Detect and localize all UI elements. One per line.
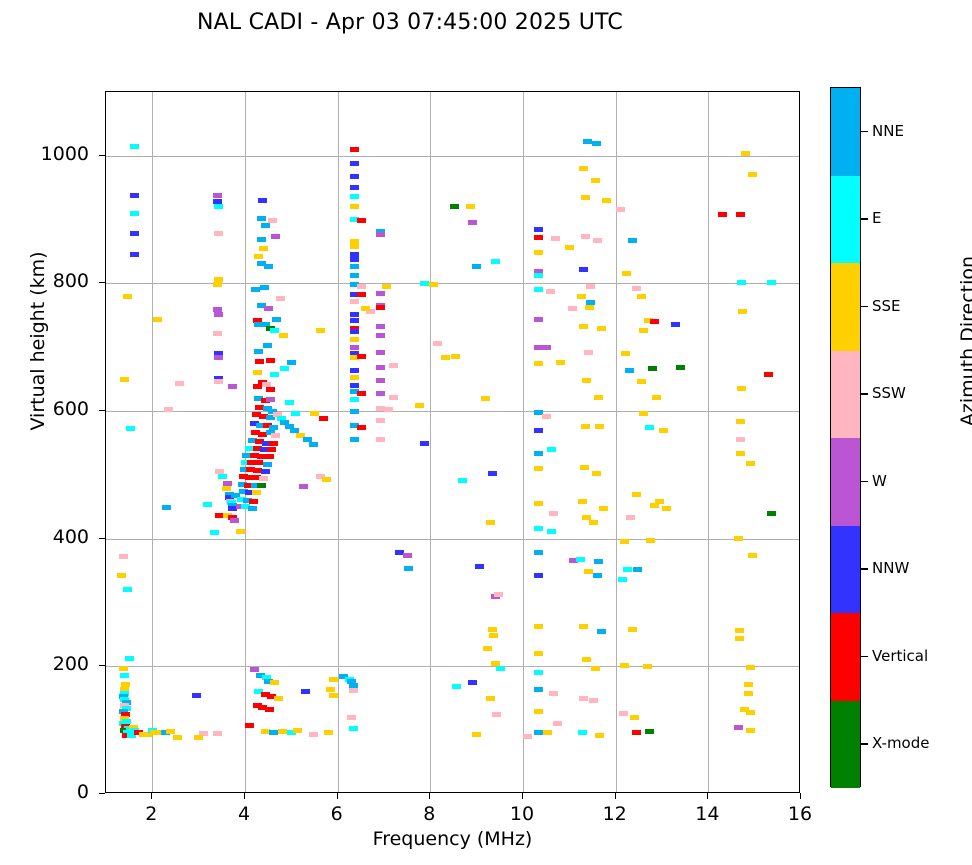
data-point <box>645 729 654 734</box>
colorbar-tick <box>861 568 868 569</box>
data-point <box>630 715 639 720</box>
data-point <box>153 317 162 322</box>
data-point <box>350 329 359 334</box>
data-point <box>139 732 148 737</box>
data-point <box>350 174 359 179</box>
data-point <box>213 193 222 198</box>
data-point <box>357 391 366 396</box>
data-point <box>486 520 495 525</box>
data-point <box>287 360 296 365</box>
data-point <box>230 518 239 523</box>
data-point <box>254 254 263 259</box>
data-point <box>173 735 182 740</box>
data-point <box>534 235 543 240</box>
data-point <box>534 687 543 692</box>
data-point <box>633 567 642 572</box>
data-point <box>472 732 481 737</box>
data-point <box>404 566 413 571</box>
data-point <box>483 646 492 651</box>
data-point <box>265 454 274 459</box>
y-tick <box>99 793 105 794</box>
x-tick <box>800 793 801 799</box>
x-tick-label: 16 <box>770 803 830 825</box>
data-point <box>553 721 562 726</box>
data-point <box>130 231 139 236</box>
data-point <box>376 232 385 237</box>
data-point <box>622 271 631 276</box>
data-point <box>580 465 589 470</box>
data-point <box>357 354 366 359</box>
data-point <box>591 666 600 671</box>
data-point <box>466 204 475 209</box>
data-point <box>589 520 598 525</box>
data-point <box>121 682 130 687</box>
data-point <box>166 729 175 734</box>
data-point <box>213 199 222 204</box>
data-point <box>326 687 335 692</box>
data-point <box>736 451 745 456</box>
data-point <box>488 627 497 632</box>
data-point <box>619 711 628 716</box>
data-point <box>542 345 551 350</box>
data-point <box>718 212 727 217</box>
data-point <box>620 539 629 544</box>
data-point <box>376 333 385 338</box>
colorbar <box>830 87 861 787</box>
data-point <box>350 264 359 269</box>
data-point <box>589 698 598 703</box>
data-point <box>203 502 212 507</box>
data-point <box>592 471 601 476</box>
colorbar-tick <box>861 743 868 744</box>
colorbar-label-nne: NNE <box>872 122 904 140</box>
data-point <box>266 397 275 402</box>
data-point <box>576 557 585 562</box>
data-point <box>602 198 611 203</box>
data-point <box>350 397 359 402</box>
data-point <box>389 395 398 400</box>
colorbar-label-w: W <box>872 472 887 490</box>
data-point <box>329 677 338 682</box>
data-point <box>650 319 659 324</box>
data-point <box>585 305 594 310</box>
data-point <box>488 471 497 476</box>
data-point <box>549 691 558 696</box>
colorbar-tick <box>861 131 868 132</box>
x-tick <box>429 793 430 799</box>
data-point <box>376 305 385 310</box>
data-point <box>623 567 632 572</box>
data-point <box>637 379 646 384</box>
data-point <box>213 331 222 336</box>
data-point <box>376 291 385 296</box>
data-point <box>263 462 272 467</box>
data-point <box>350 257 359 262</box>
data-point <box>254 349 263 354</box>
colorbar-label-e: E <box>872 209 881 227</box>
data-point <box>491 661 500 666</box>
y-tick-label: 400 <box>19 526 89 548</box>
data-point <box>376 418 385 423</box>
data-point <box>285 400 294 405</box>
data-point <box>329 693 338 698</box>
colorbar-segment-ssw <box>831 351 860 439</box>
data-point <box>523 734 532 739</box>
data-point <box>579 166 588 171</box>
x-tick <box>244 793 245 799</box>
data-point <box>309 732 318 737</box>
data-point <box>632 492 641 497</box>
page-title: NAL CADI - Apr 03 07:45:00 2025 UTC <box>0 10 820 35</box>
data-point <box>175 381 184 386</box>
data-point <box>645 425 654 430</box>
data-point <box>270 680 279 685</box>
colorbar-tick <box>861 393 868 394</box>
data-point <box>736 437 745 442</box>
data-point <box>450 204 459 209</box>
y-tick-label: 1000 <box>19 143 89 165</box>
data-point <box>737 280 746 285</box>
x-tick-label: 2 <box>121 803 181 825</box>
data-point <box>403 553 412 558</box>
data-point <box>120 377 129 382</box>
data-point <box>746 665 755 670</box>
data-point <box>746 461 755 466</box>
data-point <box>639 411 648 416</box>
data-point <box>249 499 258 504</box>
data-point <box>228 384 237 389</box>
data-point <box>260 285 269 290</box>
data-point <box>741 151 750 156</box>
data-point <box>123 294 132 299</box>
data-point <box>350 318 359 323</box>
y-axis-label: Virtual height (km) <box>27 211 49 471</box>
data-point <box>253 370 262 375</box>
data-point <box>534 550 543 555</box>
data-point <box>618 577 627 582</box>
data-point <box>735 628 744 633</box>
data-point <box>620 663 629 668</box>
data-point <box>468 220 477 225</box>
data-point <box>736 212 745 217</box>
data-point <box>350 375 359 380</box>
data-point <box>376 324 385 329</box>
data-point <box>350 147 359 152</box>
data-point <box>626 515 635 520</box>
data-point <box>632 286 641 291</box>
data-point <box>472 264 481 269</box>
y-tick <box>99 282 105 283</box>
data-point <box>767 511 776 516</box>
data-point <box>581 234 590 239</box>
data-point <box>650 503 659 508</box>
data-point <box>280 366 289 371</box>
data-point <box>744 691 753 696</box>
data-point <box>310 411 319 416</box>
data-point <box>266 358 275 363</box>
data-point <box>534 709 543 714</box>
data-point <box>376 391 385 396</box>
data-point <box>301 689 310 694</box>
x-tick <box>151 793 152 799</box>
data-point <box>591 178 600 183</box>
x-tick <box>707 793 708 799</box>
data-point <box>350 273 359 278</box>
data-point <box>125 656 134 661</box>
data-point <box>646 538 655 543</box>
data-point <box>214 312 223 317</box>
data-point <box>738 309 747 314</box>
data-point <box>130 211 139 216</box>
data-point <box>192 693 201 698</box>
data-point <box>322 477 331 482</box>
data-point <box>565 245 574 250</box>
data-point <box>748 172 757 177</box>
data-point <box>584 350 593 355</box>
x-axis-label: Frequency (MHz) <box>105 828 800 850</box>
data-point <box>278 729 287 734</box>
data-point <box>236 529 245 534</box>
data-point <box>486 696 495 701</box>
data-point <box>621 351 630 356</box>
y-tick <box>99 155 105 156</box>
data-point <box>250 667 259 672</box>
data-point <box>676 365 685 370</box>
colorbar-segment-nnw <box>831 526 860 614</box>
data-point <box>578 730 587 735</box>
data-point <box>276 296 285 301</box>
data-point <box>214 204 223 209</box>
data-point <box>637 294 646 299</box>
data-point <box>309 442 318 447</box>
data-point <box>543 730 552 735</box>
data-point <box>662 506 671 511</box>
data-point <box>347 715 356 720</box>
data-point <box>628 238 637 243</box>
data-point <box>534 573 543 578</box>
data-point <box>744 682 753 687</box>
data-point <box>736 419 745 424</box>
data-point <box>350 312 359 317</box>
colorbar-segment-vertical <box>831 613 860 701</box>
data-point <box>130 193 139 198</box>
data-point <box>350 185 359 190</box>
data-point <box>270 328 279 333</box>
colorbar-tick <box>861 306 868 307</box>
data-point <box>534 273 543 278</box>
data-point <box>357 425 366 430</box>
data-point <box>270 372 279 377</box>
data-point <box>123 587 132 592</box>
data-point <box>735 636 744 641</box>
data-point <box>542 414 551 419</box>
data-point <box>213 282 222 287</box>
data-point <box>568 306 577 311</box>
x-tick-label: 6 <box>307 803 367 825</box>
data-point <box>534 451 543 456</box>
colorbar-label-ssw: SSW <box>872 384 906 402</box>
data-point <box>764 372 773 377</box>
data-point <box>264 264 273 269</box>
data-point <box>119 666 128 671</box>
data-point <box>581 424 590 429</box>
data-point <box>534 526 543 531</box>
data-point <box>376 365 385 370</box>
data-point <box>534 670 543 675</box>
data-point <box>420 441 429 446</box>
data-point <box>579 696 588 701</box>
data-point <box>746 710 755 715</box>
data-point <box>748 553 757 558</box>
data-point <box>592 141 601 146</box>
data-point <box>534 428 543 433</box>
data-point <box>415 403 424 408</box>
data-point <box>130 252 139 257</box>
colorbar-segment-nne <box>831 88 860 176</box>
colorbar-label-sse: SSE <box>872 297 901 315</box>
data-point <box>214 231 223 236</box>
data-point <box>767 280 776 285</box>
data-point <box>349 688 358 693</box>
data-point <box>468 680 477 685</box>
data-point <box>429 282 438 287</box>
data-point <box>259 476 268 481</box>
data-point <box>597 326 606 331</box>
data-point <box>119 554 128 559</box>
data-point <box>350 345 359 350</box>
data-point <box>586 284 595 289</box>
data-point <box>534 624 543 629</box>
data-point <box>578 499 587 504</box>
data-point <box>746 728 755 733</box>
colorbar-tick <box>861 218 868 219</box>
data-point <box>290 428 299 433</box>
colorbar-segment-sse <box>831 263 860 351</box>
data-point <box>581 195 590 200</box>
colorbar-segment-e <box>831 176 860 264</box>
data-point <box>452 684 461 689</box>
data-point <box>210 530 219 535</box>
colorbar-tick <box>861 481 868 482</box>
data-point <box>594 559 603 564</box>
data-point <box>299 484 308 489</box>
scatter-data-layer <box>106 92 799 792</box>
data-point <box>350 194 359 199</box>
colorbar-segment-w <box>831 438 860 526</box>
data-point <box>389 363 398 368</box>
data-point <box>441 355 450 360</box>
x-tick <box>615 793 616 799</box>
data-point <box>258 198 267 203</box>
data-point <box>213 731 222 736</box>
data-point <box>632 730 641 735</box>
data-point <box>268 218 277 223</box>
data-point <box>316 328 325 333</box>
data-point <box>218 474 227 479</box>
data-point <box>639 328 648 333</box>
data-point <box>579 267 588 272</box>
data-point <box>252 490 261 495</box>
y-tick-label: 0 <box>19 781 89 803</box>
data-point <box>350 368 359 373</box>
x-tick-label: 12 <box>585 803 645 825</box>
data-point <box>628 627 637 632</box>
data-point <box>376 437 385 442</box>
data-point <box>534 250 543 255</box>
data-point <box>546 289 555 294</box>
data-point <box>350 299 359 304</box>
data-point <box>547 529 556 534</box>
data-point <box>350 409 359 414</box>
x-tick-label: 4 <box>214 803 274 825</box>
colorbar-label-vertical: Vertical <box>872 647 928 665</box>
data-point <box>458 478 467 483</box>
data-point <box>384 407 393 412</box>
data-point <box>361 306 370 311</box>
data-point <box>279 333 288 338</box>
data-point <box>117 573 126 578</box>
data-point <box>271 433 280 438</box>
data-point <box>433 341 442 346</box>
data-point <box>259 246 268 251</box>
data-point <box>534 361 543 366</box>
data-point <box>625 368 634 373</box>
data-point <box>269 441 278 446</box>
data-point <box>350 244 359 249</box>
data-point <box>214 379 223 384</box>
data-point <box>382 284 391 289</box>
x-tick <box>522 793 523 799</box>
data-point <box>255 359 264 364</box>
data-point <box>350 204 359 209</box>
data-point <box>164 407 173 412</box>
data-point <box>577 294 586 299</box>
data-point <box>534 317 543 322</box>
data-point <box>251 287 260 292</box>
data-point <box>534 287 543 292</box>
x-tick-label: 10 <box>492 803 552 825</box>
data-point <box>659 428 668 433</box>
data-point <box>261 469 270 474</box>
y-tick <box>99 538 105 539</box>
y-tick <box>99 410 105 411</box>
data-point <box>162 505 171 510</box>
data-point <box>223 481 232 486</box>
data-point <box>130 144 139 149</box>
data-point <box>616 207 625 212</box>
data-point <box>475 564 484 569</box>
data-point <box>349 726 358 731</box>
colorbar-segment-x-mode <box>831 701 860 789</box>
data-point <box>376 350 385 355</box>
data-point <box>652 395 661 400</box>
data-point <box>274 696 283 701</box>
data-point <box>481 396 490 401</box>
data-point <box>671 322 680 327</box>
data-point <box>350 437 359 442</box>
plot-area <box>105 91 800 793</box>
data-point <box>194 735 203 740</box>
data-point <box>579 324 588 329</box>
data-point <box>551 236 560 241</box>
colorbar-label-nnw: NNW <box>872 559 909 577</box>
data-point <box>494 592 503 597</box>
data-point <box>263 343 272 348</box>
data-point <box>595 733 604 738</box>
data-point <box>492 712 501 717</box>
x-tick <box>337 793 338 799</box>
data-point <box>350 337 359 342</box>
